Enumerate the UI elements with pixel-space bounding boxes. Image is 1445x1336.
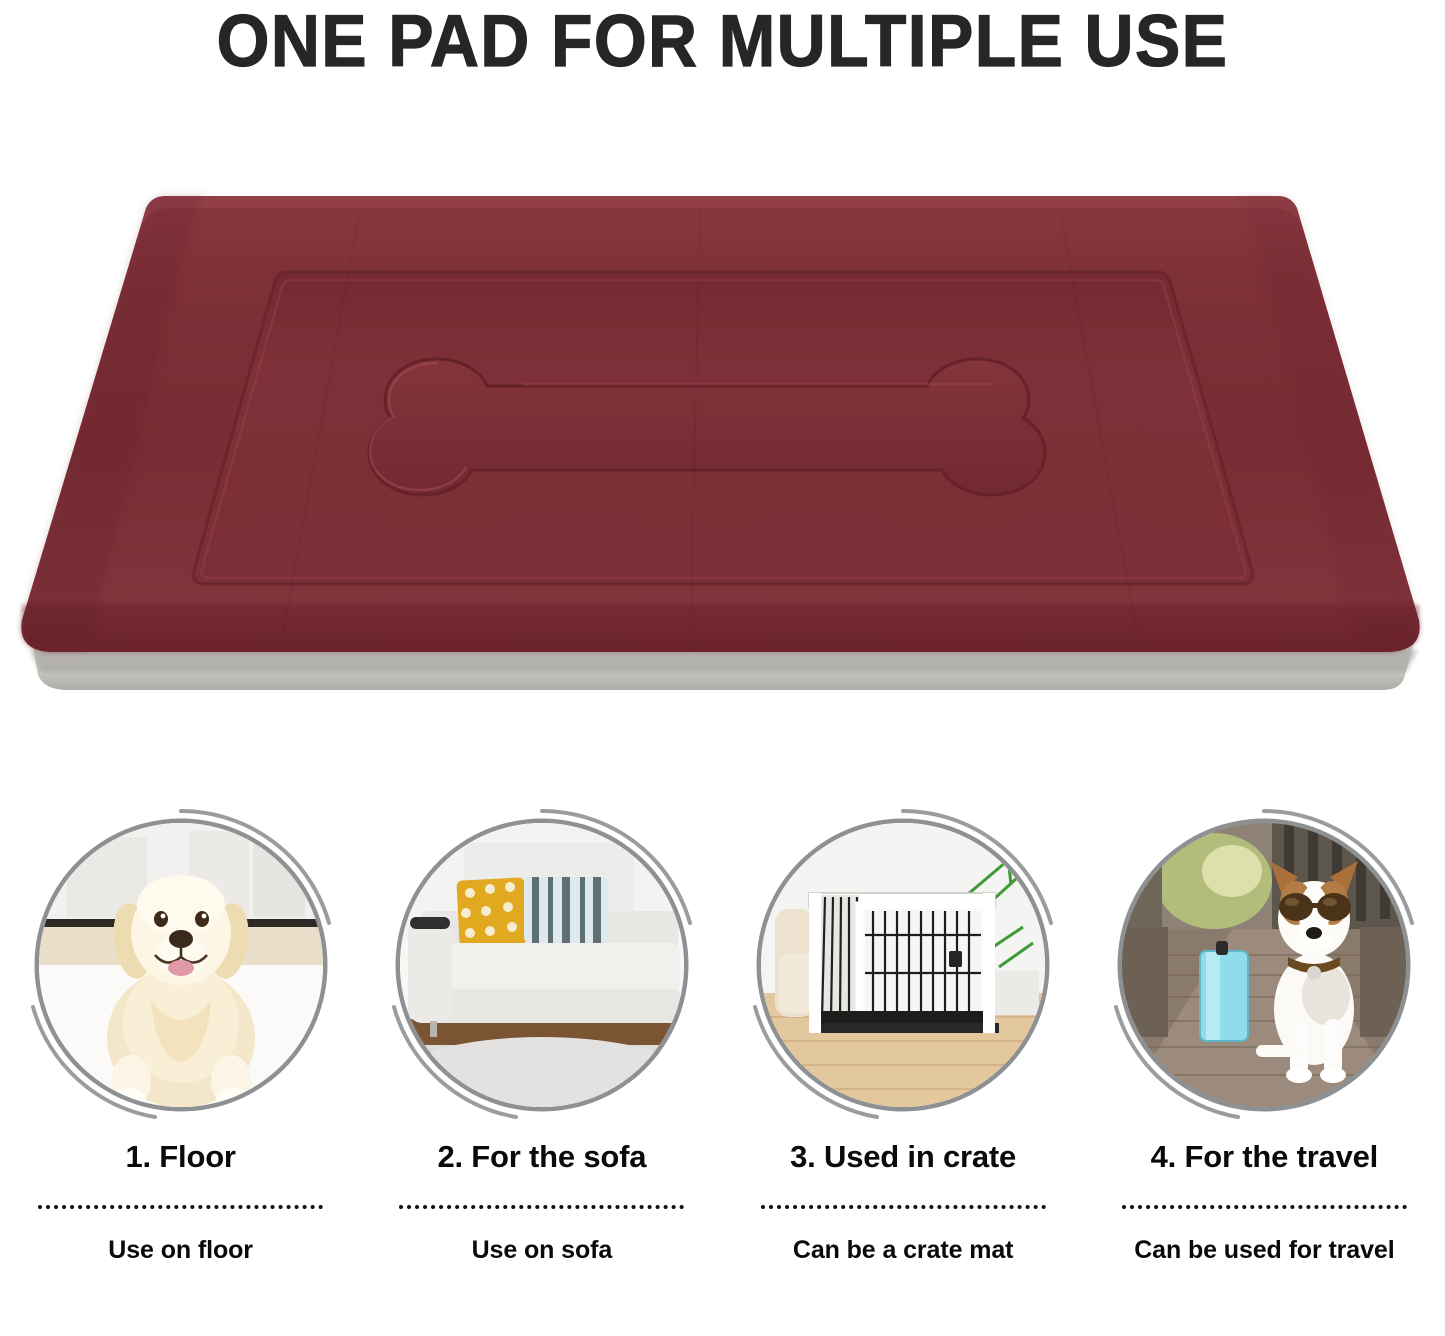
- product-infographic: ONE PAD FOR MULTIPLE USE: [0, 0, 1445, 1336]
- use-case-2-divider: [399, 1205, 684, 1209]
- use-case-4-circle: [1114, 815, 1414, 1115]
- use-case-1-subtitle: Use on floor: [108, 1235, 253, 1265]
- use-case-3-circle: [753, 815, 1053, 1115]
- use-case-4-subtitle: Can be used for travel: [1134, 1235, 1394, 1265]
- use-case-4-title: 4. For the travel: [1151, 1139, 1378, 1175]
- use-case-2-subtitle: Use on sofa: [472, 1235, 613, 1265]
- use-case-3-subtitle: Can be a crate mat: [793, 1235, 1014, 1265]
- use-case-2[interactable]: 2. For the sofa Use on sofa: [361, 805, 722, 1336]
- use-case-1-title: 1. Floor: [125, 1139, 235, 1175]
- hero-product-image: [0, 150, 1445, 750]
- use-case-row: 1. Floor Use on floor: [0, 805, 1445, 1336]
- use-case-2-title: 2. For the sofa: [437, 1139, 646, 1175]
- use-case-1-divider: [38, 1205, 323, 1209]
- pad-bottom-shade: [21, 605, 1419, 652]
- pad-base-shadow: [30, 650, 1418, 672]
- use-case-3[interactable]: 3. Used in crate Can be a crate mat: [723, 805, 1084, 1336]
- use-case-4[interactable]: 4. For the travel Can be used for travel: [1084, 805, 1445, 1336]
- crate-latch-icon: [949, 951, 962, 967]
- use-case-1[interactable]: 1. Floor Use on floor: [0, 805, 361, 1336]
- use-case-3-divider: [761, 1205, 1046, 1209]
- jack-russell-with-suitcase-photo: [1122, 823, 1406, 1107]
- page-title: ONE PAD FOR MULTIPLE USE: [51, 0, 1395, 84]
- use-case-1-circle: [31, 815, 331, 1115]
- white-sofa-with-pillows-photo: [400, 823, 684, 1107]
- use-case-2-circle: [392, 815, 692, 1115]
- dog-pad-illustration: [0, 150, 1445, 750]
- white-wooden-dog-crate-photo: [761, 823, 1045, 1107]
- golden-retriever-on-floor-photo: [39, 823, 323, 1107]
- use-case-4-divider: [1122, 1205, 1407, 1209]
- use-case-3-title: 3. Used in crate: [790, 1139, 1016, 1175]
